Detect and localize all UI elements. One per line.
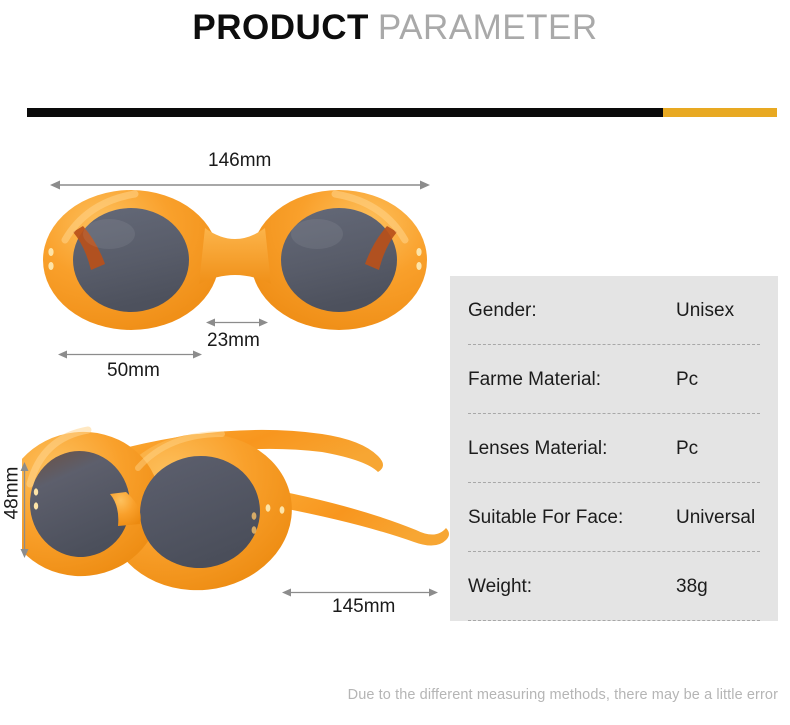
title-primary: PRODUCT	[192, 8, 369, 47]
spec-label-suitable-for-face: Suitable For Face:	[468, 507, 676, 529]
dimension-arrow-front-width	[50, 178, 430, 192]
sunglasses-side-view	[22, 412, 452, 602]
dimension-label-lens-height: 48mm	[1, 467, 23, 520]
dimension-label-temple-length: 145mm	[332, 596, 395, 618]
dimension-label-bridge: 23mm	[207, 330, 260, 352]
spec-value-suitable-for-face: Universal	[676, 507, 755, 529]
spec-value-frame-material: Pc	[676, 369, 698, 391]
table-row: Farme Material: Pc	[468, 345, 760, 414]
product-parameter-page: PRODUCTPARAMETER	[0, 0, 790, 725]
section-divider	[27, 108, 777, 117]
table-row: Weight: 38g	[468, 552, 760, 621]
divider-dark-segment	[27, 108, 663, 117]
dimension-label-front-width: 146mm	[208, 150, 271, 172]
table-row: Lenses Material: Pc	[468, 414, 760, 483]
title-secondary: PARAMETER	[378, 8, 598, 47]
page-title: PRODUCTPARAMETER	[0, 8, 790, 48]
spec-label-lenses-material: Lenses Material:	[468, 438, 676, 460]
dimension-arrow-bridge	[206, 316, 268, 329]
table-row: Suitable For Face: Universal	[468, 483, 760, 552]
spec-label-frame-material: Farme Material:	[468, 369, 676, 391]
spec-value-weight: 38g	[676, 576, 708, 598]
spec-value-lenses-material: Pc	[676, 438, 698, 460]
spec-label-gender: Gender:	[468, 300, 676, 322]
table-row: Gender: Unisex	[468, 276, 760, 345]
spec-value-gender: Unisex	[676, 300, 734, 322]
specification-table: Gender: Unisex Farme Material: Pc Lenses…	[450, 276, 778, 621]
spec-label-weight: Weight:	[468, 576, 676, 598]
dimension-label-lens-width: 50mm	[107, 360, 160, 382]
divider-accent-segment	[663, 108, 777, 117]
measurement-disclaimer: Due to the different measuring methods, …	[348, 687, 778, 703]
